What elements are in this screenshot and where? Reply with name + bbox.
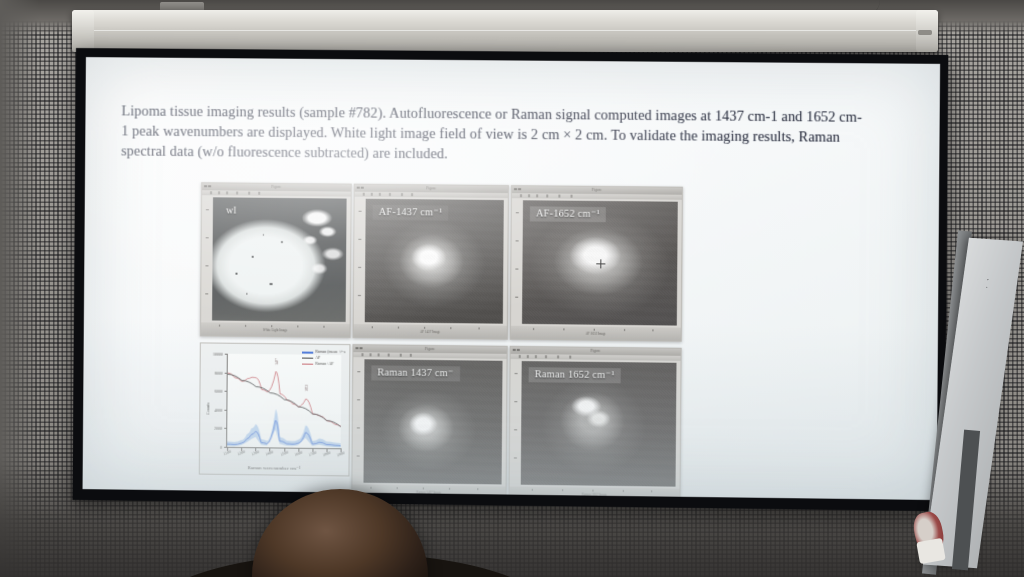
peak-annotation-1652: 1652 (305, 384, 309, 391)
window-title: Figure (425, 347, 435, 351)
window-statusbar: White Light Image (201, 322, 350, 337)
plot-axes-area: Raman 1652 cm⁻¹ (510, 359, 681, 489)
xtick-label: 1600 (293, 450, 302, 457)
figure-window-af1437[interactable]: Figure AF-1437 cm⁻¹ (353, 184, 509, 340)
plot-axes-area: AF-1437 cm⁻¹ (354, 197, 508, 326)
peak-annotation-1437: 1437 (275, 358, 279, 365)
window-controls-icon[interactable] (514, 188, 521, 191)
legend-swatch-af (302, 358, 313, 360)
window-title: Figure (271, 185, 281, 189)
window-controls-icon[interactable] (204, 185, 211, 188)
chart-plot-area: 0 2000 4000 6000 8000 10000 1100 1200 13… (226, 354, 341, 450)
ytick-label: 4000 (214, 407, 222, 412)
panel-label-raman1437: Raman 1437 cm⁻ (371, 365, 459, 381)
figure-window-raman1437[interactable]: Figure Raman 1437 cm⁻ (351, 344, 507, 500)
plot-axes-area: Raman 1437 cm⁻ (352, 357, 506, 486)
xtick-label: 1400 (265, 449, 274, 456)
window-statusbar: AF 1437 Image (354, 324, 507, 339)
raman-spectrum-chart[interactable]: Counts 0 2000 4000 6000 8000 10000 1100 … (199, 342, 351, 476)
slide-caption: Lipoma tissue imaging results (sample #7… (121, 101, 868, 168)
figure-grid: Figure wl (199, 182, 736, 479)
plot-axes-area: AF-1652 cm⁻¹ (511, 198, 682, 327)
window-controls-icon[interactable] (357, 186, 364, 189)
wl-image-canvas: wl (212, 197, 347, 322)
crosshair-marker-icon (596, 259, 605, 268)
white-object (916, 538, 945, 564)
projection-screen-frame: Lipoma tissue imaging results (sample #7… (72, 48, 948, 511)
panel-xcaption-af1437: AF 1437 Image (420, 330, 440, 334)
panel-label-af1652: AF-1652 cm⁻¹ (530, 206, 606, 221)
spectrum-series-plot (227, 354, 341, 449)
housing-end-cap-left (72, 10, 94, 52)
window-controls-icon[interactable] (355, 347, 362, 350)
chart-legend: Raman (mean +/- s AF Raman+AF (302, 350, 346, 368)
ytick-label: 0 (220, 444, 222, 449)
af1437-image-canvas: AF-1437 cm⁻¹ (365, 199, 504, 324)
window-statusbar: Raman 1652 Image (510, 487, 680, 501)
xtick-label: 1200 (237, 449, 246, 456)
xtick-label: 1700 (308, 450, 317, 457)
xtick-label: 1100 (223, 449, 232, 456)
ytick-label: 10000 (213, 351, 223, 356)
whiteboard-marking (986, 279, 999, 289)
window-title: Figure (426, 186, 436, 190)
panel-label-raman1652: Raman 1652 cm⁻¹ (529, 367, 621, 383)
figure-window-raman1652[interactable]: Figure Raman 1652 cm⁻¹ (508, 346, 681, 500)
housing-knob (918, 30, 932, 35)
projector-screen-housing[interactable] (72, 10, 938, 52)
figure-window-wl[interactable]: Figure wl (200, 182, 352, 338)
ytick-label: 6000 (214, 388, 222, 393)
af1652-image-canvas: AF-1652 cm⁻¹ (522, 200, 678, 325)
window-title: Figure (590, 349, 600, 353)
panel-label-af1437: AF-1437 cm⁻¹ (373, 205, 449, 220)
legend-swatch-raman (302, 352, 313, 354)
legend-item-ramanaf: Raman+AF (302, 361, 346, 367)
panel-xcaption-af1652: AF 1652 Image (586, 332, 606, 336)
window-statusbar: AF 1652 Image (511, 326, 681, 341)
chart-ylabel: Counts (205, 402, 210, 415)
xtick-label: 1900 (336, 450, 345, 457)
xtick-label: 1300 (251, 449, 260, 456)
legend-label-ramanaf: Raman+AF (315, 361, 333, 367)
legend-swatch-ramanaf (302, 364, 313, 366)
chart-xlabel: Raman wavenumber cm⁻¹ (200, 465, 349, 473)
raman1652-image-canvas: Raman 1652 cm⁻¹ (521, 361, 677, 487)
window-controls-icon[interactable] (513, 348, 520, 351)
panel-label-wl: wl (220, 203, 243, 218)
panel-xcaption-raman1437: Raman 1437 Image (416, 490, 441, 494)
plot-axes-area: wl (201, 195, 351, 324)
ytick-label: 8000 (215, 370, 223, 375)
raman1437-image-canvas: Raman 1437 cm⁻ (363, 359, 502, 484)
window-title: Figure (592, 188, 602, 192)
ytick-label: 2000 (214, 426, 222, 431)
projected-slide: Lipoma tissue imaging results (sample #7… (83, 57, 941, 500)
figure-window-af1652[interactable]: Figure AF-1652 cm⁻¹ (510, 185, 683, 342)
lecture-room-scene: Lipoma tissue imaging results (sample #7… (0, 0, 1024, 577)
xtick-label: 1800 (322, 450, 331, 457)
panel-xcaption-raman1652: Raman 1652 Image (582, 492, 607, 496)
panel-xcaption-wl: White Light Image (263, 328, 287, 332)
xtick-label: 1500 (279, 450, 288, 457)
